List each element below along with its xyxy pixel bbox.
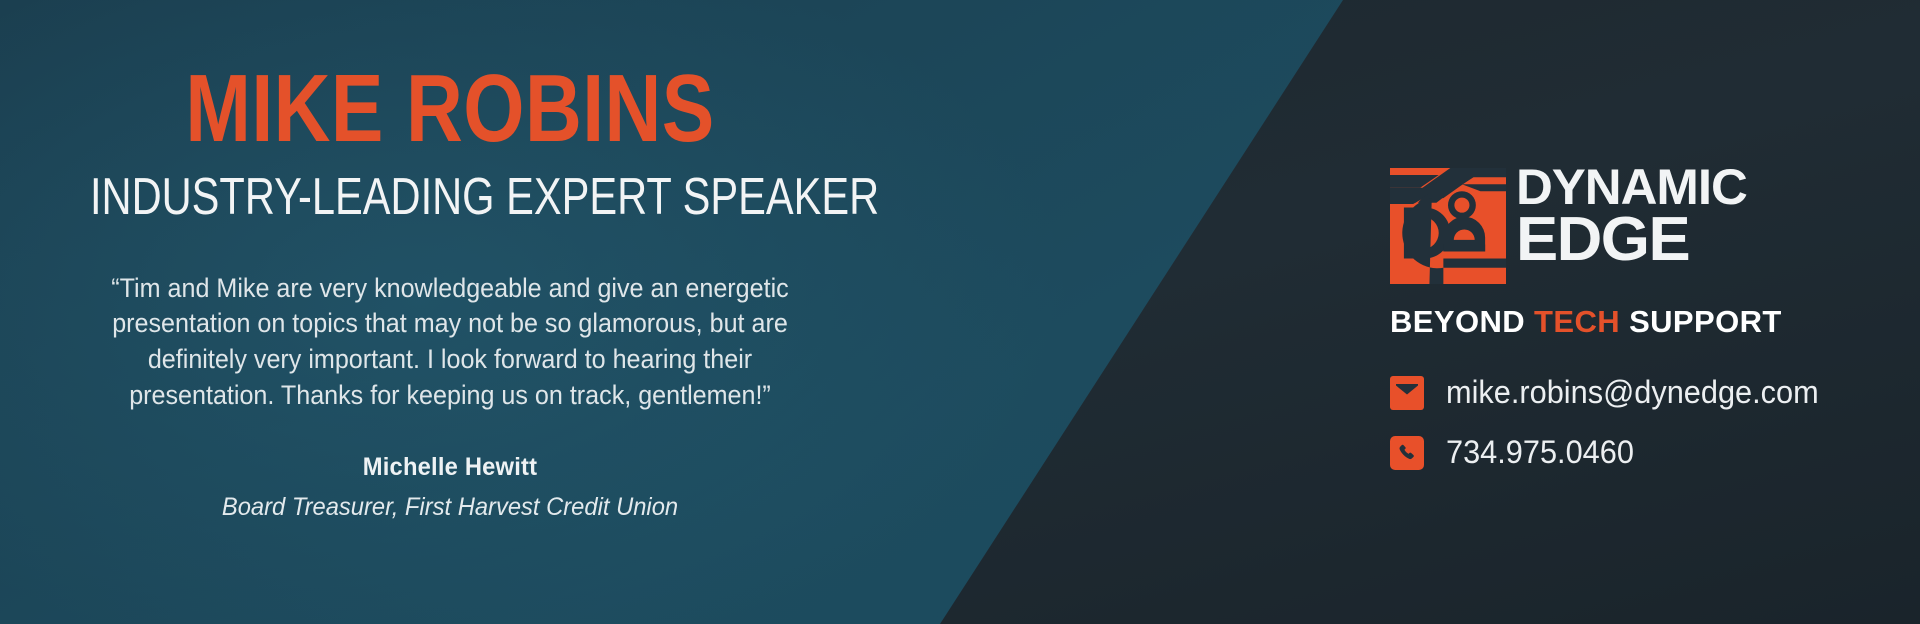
speaker-tagline: INDUSTRY-LEADING EXPERT SPEAKER — [90, 170, 810, 225]
wordmark-edge: EDGE — [1516, 211, 1747, 269]
tagline-tech: TECH — [1534, 304, 1620, 339]
speaker-info-column: MIKE ROBINS INDUSTRY-LEADING EXPERT SPEA… — [0, 0, 900, 624]
dynamic-edge-wordmark: DYNAMIC EDGE — [1516, 164, 1742, 268]
brand-tagline: BEYOND TECH SUPPORT — [1390, 304, 1850, 340]
testimonial-attribution: Michelle Hewitt Board Treasurer, First H… — [23, 453, 878, 522]
dynamic-edge-logo: DYNAMIC EDGE — [1390, 168, 1850, 289]
quote-line: “Tim and Mike are very knowledgeable and… — [78, 271, 822, 307]
contact-phone-text: 734.975.0460 — [1446, 434, 1634, 471]
speaker-promo-banner: MIKE ROBINS INDUSTRY-LEADING EXPERT SPEA… — [0, 0, 1920, 624]
tagline-support: SUPPORT — [1629, 304, 1782, 339]
speaker-name: MIKE ROBINS — [81, 62, 819, 156]
attribution-name: Michelle Hewitt — [23, 453, 878, 482]
contact-list: mike.robins@dynedge.com 734.975.0460 — [1390, 374, 1850, 471]
quote-line: presentation on topics that may not be s… — [78, 306, 822, 342]
tagline-beyond: BEYOND — [1390, 304, 1525, 339]
quote-line: definitely very important. I look forwar… — [78, 342, 822, 378]
contact-email-row[interactable]: mike.robins@dynedge.com — [1390, 374, 1850, 411]
quote-line: presentation. Thanks for keeping us on t… — [78, 378, 822, 414]
testimonial-quote: “Tim and Mike are very knowledgeable and… — [78, 271, 822, 414]
dynamic-edge-logo-mark-icon — [1390, 168, 1506, 289]
attribution-role: Board Treasurer, First Harvest Credit Un… — [23, 493, 878, 522]
brand-contact-column: DYNAMIC EDGE BEYOND TECH SUPPORT mike.ro… — [1390, 168, 1850, 494]
contact-email-text: mike.robins@dynedge.com — [1446, 374, 1819, 411]
contact-phone-row[interactable]: 734.975.0460 — [1390, 434, 1850, 471]
phone-icon — [1390, 436, 1424, 470]
envelope-icon — [1390, 376, 1424, 410]
